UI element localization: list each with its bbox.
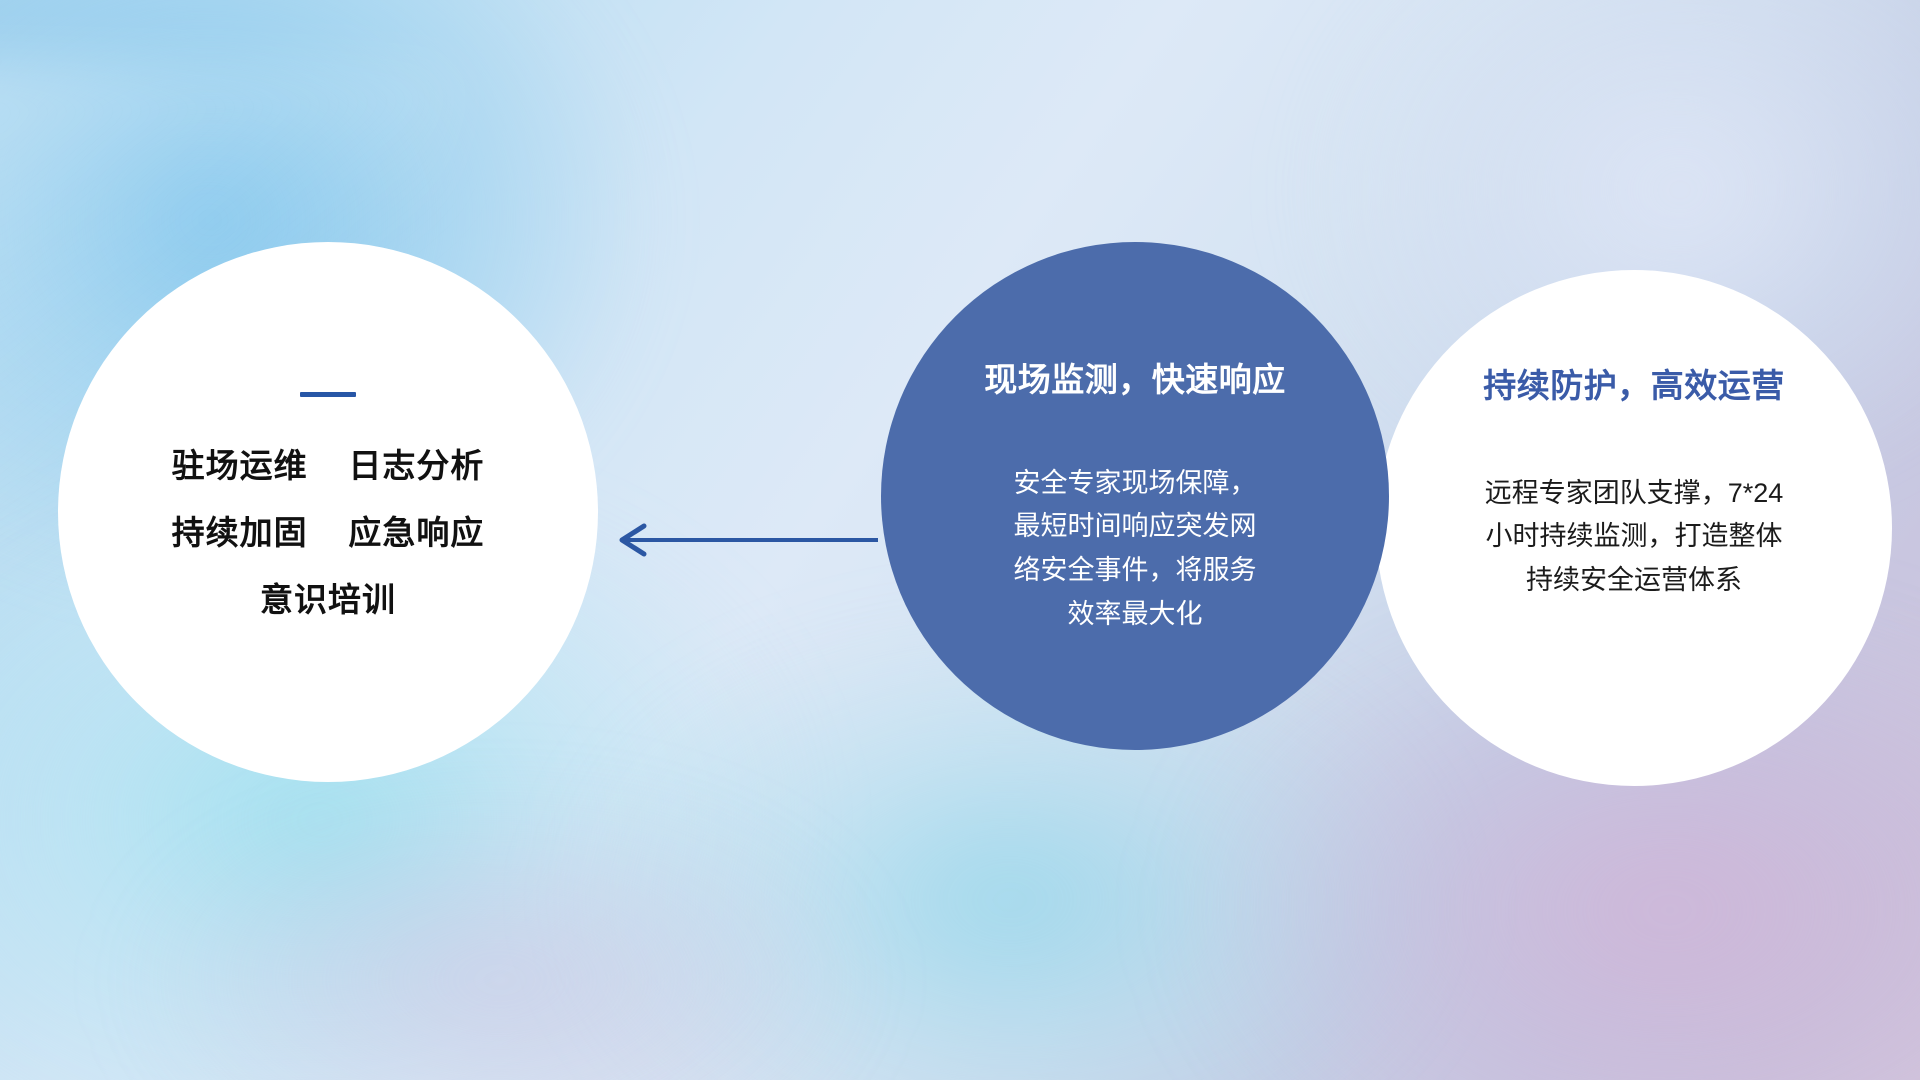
right-body-line-3: 持续安全运营体系 bbox=[1398, 559, 1870, 603]
slide-canvas: 驻场运维 日志分析 持续加固 应急响应 意识培训 持续防护，高效运营 远程专家团… bbox=[0, 0, 1920, 1080]
right-circle-title: 持续防护，高效运营 bbox=[1376, 366, 1892, 406]
right-operations-circle[interactable]: 持续防护，高效运营 远程专家团队支撑，7*24 小时持续监测，打造整体 持续安全… bbox=[1376, 270, 1892, 786]
middle-body-line-3: 络安全事件，将服务 bbox=[923, 549, 1347, 593]
right-circle-body: 远程专家团队支撑，7*24 小时持续监测，打造整体 持续安全运营体系 bbox=[1376, 472, 1892, 603]
middle-body-line-4: 效率最大化 bbox=[923, 593, 1347, 637]
left-service-line-1: 驻场运维 日志分析 bbox=[58, 449, 598, 482]
middle-body-line-2: 最短时间响应突发网 bbox=[923, 505, 1347, 549]
middle-circle-title: 现场监测，快速响应 bbox=[881, 360, 1389, 400]
right-body-line-1: 远程专家团队支撑，7*24 bbox=[1398, 472, 1870, 516]
background-glow-bottom-left-lavender bbox=[120, 780, 880, 1080]
left-services-circle[interactable]: 驻场运维 日志分析 持续加固 应急响应 意识培训 bbox=[58, 242, 598, 782]
middle-circle-content: 现场监测，快速响应 安全专家现场保障， 最短时间响应突发网 络安全事件，将服务 … bbox=[881, 360, 1389, 637]
left-service-line-3: 意识培训 bbox=[58, 583, 598, 616]
middle-circle-body: 安全专家现场保障， 最短时间响应突发网 络安全事件，将服务 效率最大化 bbox=[881, 462, 1389, 637]
accent-dash-icon bbox=[300, 392, 356, 397]
left-circle-content: 驻场运维 日志分析 持续加固 应急响应 意识培训 bbox=[58, 392, 598, 616]
right-body-line-2: 小时持续监测，打造整体 bbox=[1398, 515, 1870, 559]
middle-monitoring-circle[interactable]: 现场监测，快速响应 安全专家现场保障， 最短时间响应突发网 络安全事件，将服务 … bbox=[881, 242, 1389, 750]
right-circle-content: 持续防护，高效运营 远程专家团队支撑，7*24 小时持续监测，打造整体 持续安全… bbox=[1376, 366, 1892, 603]
flow-arrow-left-icon bbox=[610, 520, 880, 560]
left-service-line-2: 持续加固 应急响应 bbox=[58, 516, 598, 549]
middle-body-line-1: 安全专家现场保障， bbox=[923, 462, 1347, 506]
